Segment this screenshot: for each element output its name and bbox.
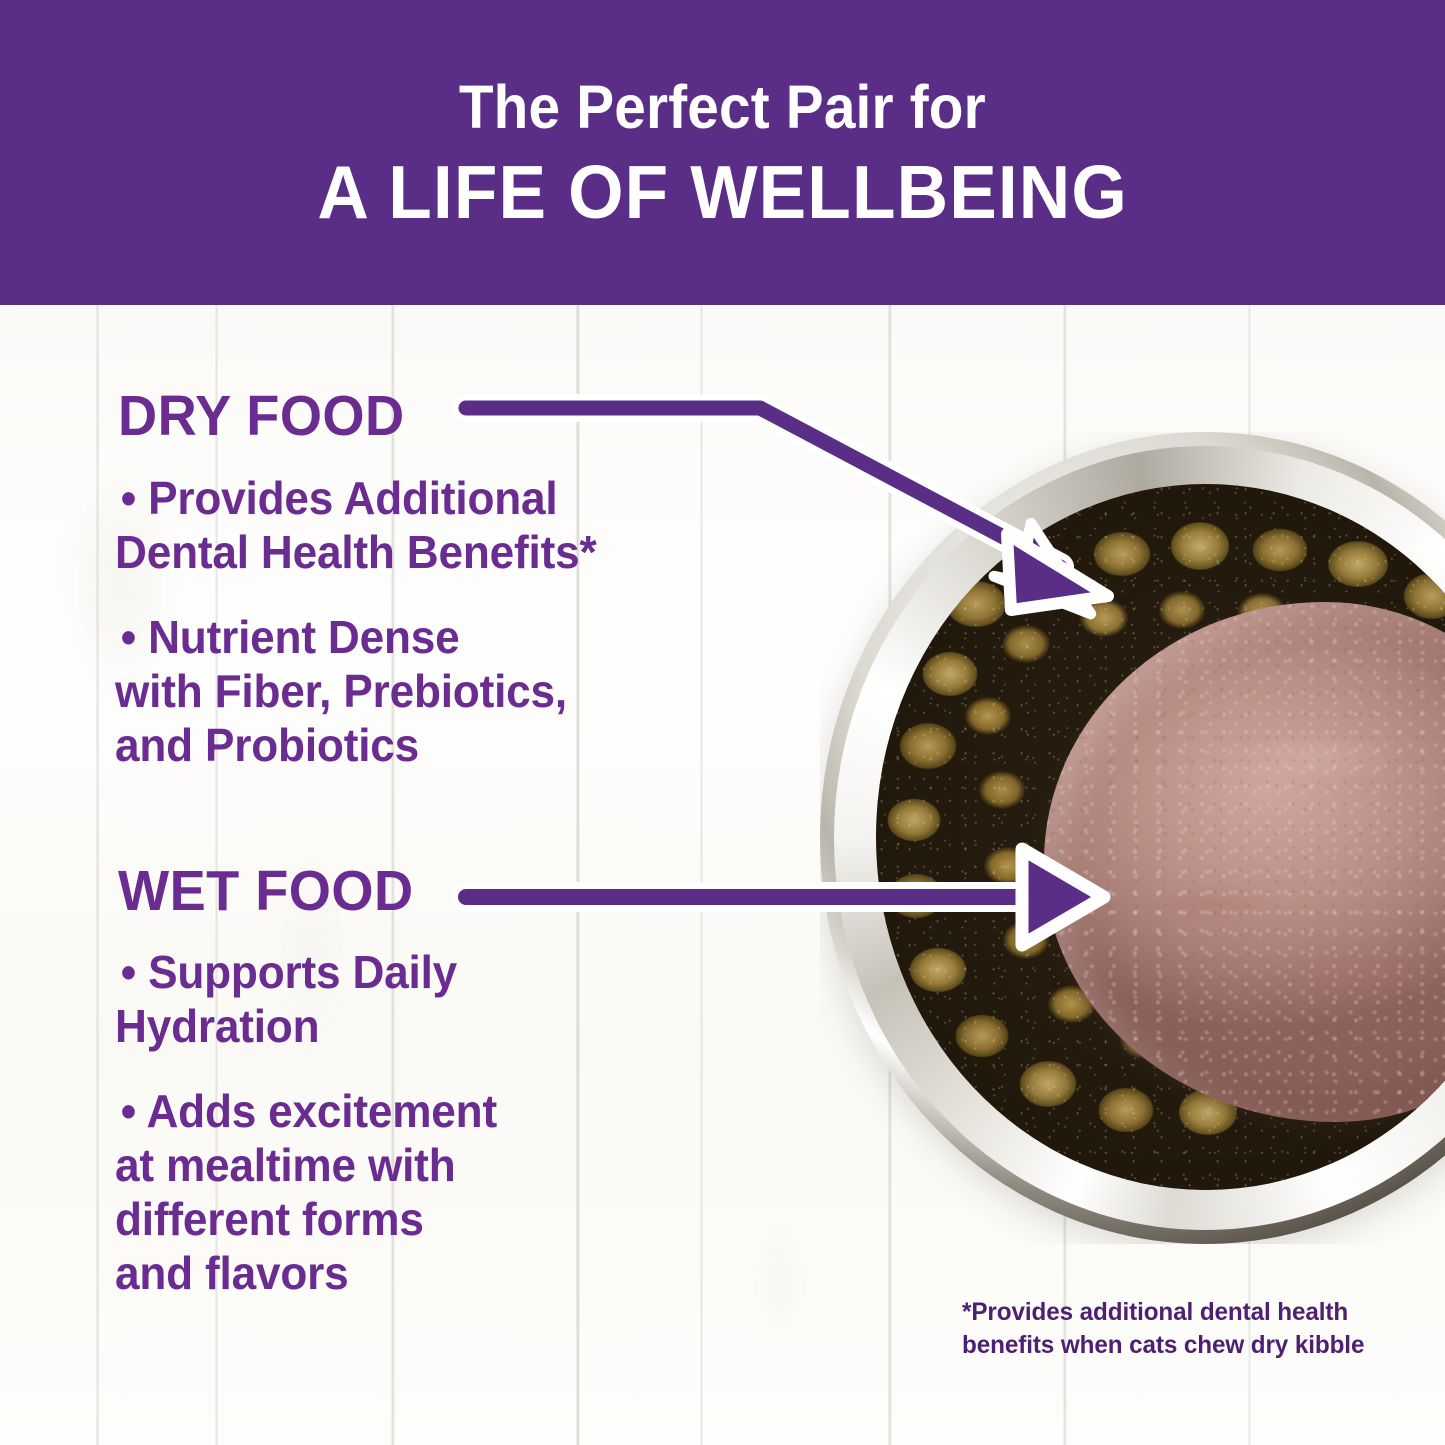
list-item: • Adds excitement at mealtime with diffe… — [115, 1084, 768, 1301]
list-item: • Provides Additional Dental Health Bene… — [115, 471, 768, 580]
list-item: • Nutrient Dense with Fiber, Prebiotics,… — [115, 610, 768, 773]
wet-food-bullet-list: • Supports Daily Hydration • Adds excite… — [115, 945, 768, 1301]
wet-bullet-2-line-4: and flavors — [115, 1247, 348, 1299]
dry-food-heading: DRY FOOD — [118, 383, 405, 449]
header-line-1: The Perfect Pair for — [459, 75, 986, 139]
footnote-line-1: *Provides additional dental health — [962, 1296, 1369, 1329]
footnote: *Provides additional dental health benef… — [962, 1296, 1369, 1361]
wet-bullet-1-line-2: Hydration — [115, 1000, 319, 1052]
list-item: • Supports Daily Hydration — [115, 945, 768, 1054]
dry-food-bullet-list: • Provides Additional Dental Health Bene… — [115, 471, 768, 772]
dry-bullet-1-line-1: • Provides Additional — [115, 472, 558, 524]
dry-bullet-2-line-3: and Probiotics — [115, 719, 419, 771]
copy-column: DRY FOOD • Provides Additional Dental He… — [0, 305, 820, 1445]
wet-bullet-1-line-1: • Supports Daily — [115, 946, 457, 998]
header-banner: The Perfect Pair for A LIFE OF WELLBEING — [0, 0, 1445, 305]
wet-bullet-2-line-3: different forms — [115, 1193, 424, 1245]
infographic-canvas: The Perfect Pair for A LIFE OF WELLBEING… — [0, 0, 1445, 1445]
wet-food-heading: WET FOOD — [118, 858, 414, 924]
wet-bullet-2-line-1: • Adds excitement — [115, 1085, 497, 1137]
dry-bullet-2-line-1: • Nutrient Dense — [115, 611, 460, 663]
dry-bullet-2-line-2: with Fiber, Prebiotics, — [115, 665, 567, 717]
dry-bullet-1-line-2: Dental Health Benefits* — [115, 526, 596, 578]
footnote-line-2: benefits when cats chew dry kibble — [962, 1329, 1369, 1362]
wet-bullet-2-line-2: at mealtime with — [115, 1139, 455, 1191]
header-line-2: A LIFE OF WELLBEING — [317, 155, 1128, 230]
